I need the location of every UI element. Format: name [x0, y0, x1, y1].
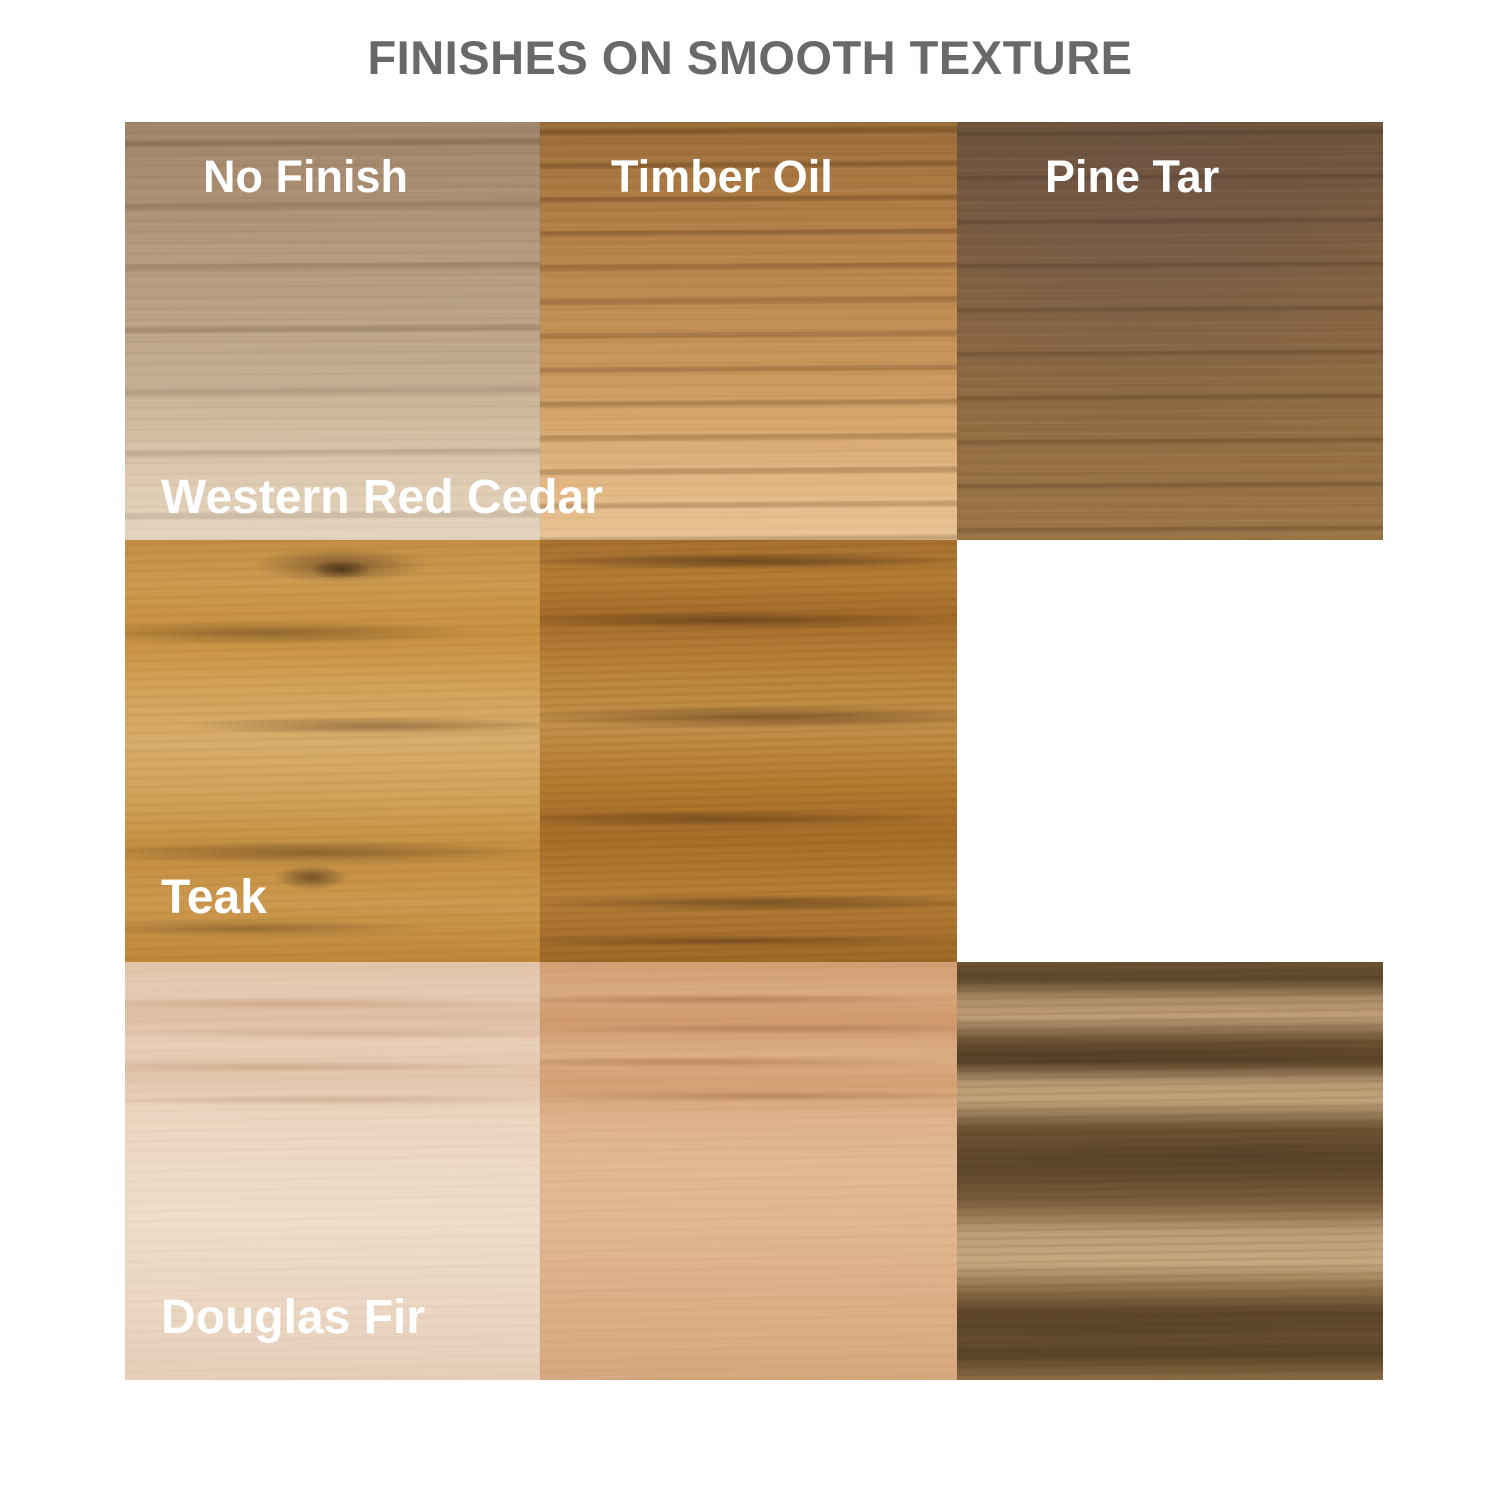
- row-label-western-red-cedar: Western Red Cedar: [161, 474, 603, 522]
- sample-cell-douglas-fir-timber-oil[interactable]: [540, 962, 957, 1380]
- finish-sample-grid: No Finish Timber Oil Pine Tar Western Re…: [125, 122, 1383, 1380]
- sample-cell-teak-timber-oil[interactable]: [540, 540, 957, 962]
- page-title: FINISHES ON SMOOTH TEXTURE: [0, 30, 1500, 85]
- column-label-timber-oil: Timber Oil: [611, 154, 833, 199]
- wood-texture-teak-timber-oil: [540, 540, 957, 962]
- column-label-no-finish: No Finish: [203, 154, 408, 199]
- row-label-douglas-fir: Douglas Fir: [161, 1294, 425, 1342]
- grain-noise-layer: [957, 962, 1383, 1380]
- grain-noise-layer: [540, 540, 957, 962]
- column-label-pine-tar: Pine Tar: [1045, 154, 1219, 199]
- wood-texture-fir-pine-tar: [957, 962, 1383, 1380]
- sample-cell-douglas-fir-pine-tar[interactable]: [957, 962, 1383, 1380]
- row-label-teak: Teak: [161, 874, 267, 922]
- wood-texture-fir-timber-oil: [540, 962, 957, 1380]
- grain-noise-layer: [540, 962, 957, 1380]
- sample-cell-teak-pine-tar-empty: [957, 540, 1383, 962]
